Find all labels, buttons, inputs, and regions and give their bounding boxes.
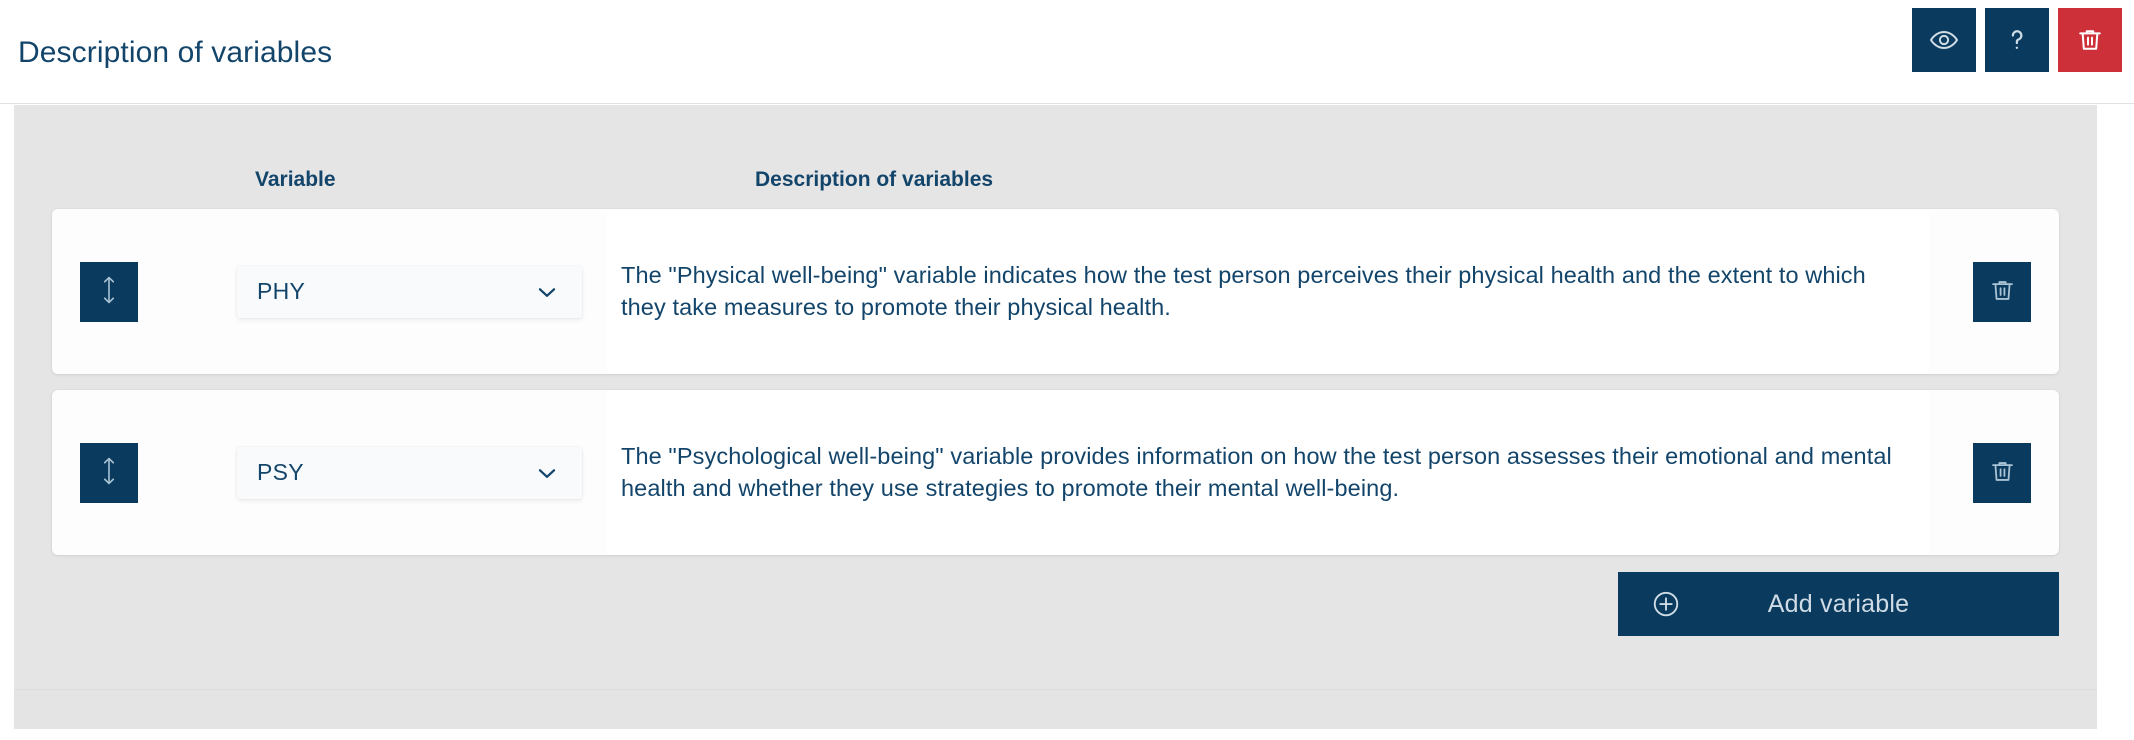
variable-select-value: PSY: [237, 459, 534, 486]
variables-panel: Variable Description of variables PHY: [14, 105, 2097, 729]
variable-description-text: The "Psychological well-being" variable …: [607, 441, 1929, 505]
table-row: PHY The "Physical well-being" variable i…: [52, 209, 2059, 374]
variable-select-value: PHY: [237, 278, 534, 305]
question-mark-icon: [2002, 25, 2032, 55]
trash-icon: [1989, 458, 2016, 488]
chevron-down-icon: [534, 460, 582, 486]
variable-rows: PHY The "Physical well-being" variable i…: [14, 209, 2097, 571]
eye-icon: [1929, 25, 1959, 55]
page-header: Description of variables: [0, 0, 2134, 104]
page-title: Description of variables: [18, 36, 332, 70]
header-action-group: [1912, 8, 2122, 72]
delete-section-button[interactable]: [2058, 8, 2122, 72]
variable-select[interactable]: PHY: [237, 266, 582, 318]
delete-row-button[interactable]: [1973, 443, 2031, 503]
trash-icon: [1989, 277, 2016, 307]
help-button[interactable]: [1985, 8, 2049, 72]
variable-description-text: The "Physical well-being" variable indic…: [607, 260, 1929, 324]
plus-circle-icon: [1618, 589, 1714, 619]
variable-select[interactable]: PSY: [237, 447, 582, 499]
delete-row-button[interactable]: [1973, 262, 2031, 322]
table-header-row: Variable Description of variables: [14, 168, 2097, 198]
column-header-description: Description of variables: [755, 168, 993, 192]
drag-handle-button[interactable]: [80, 262, 138, 322]
add-variable-label: Add variable: [1714, 590, 2059, 619]
drag-vertical-arrows-icon: [98, 275, 120, 308]
add-variable-row: Add variable: [1618, 572, 2059, 636]
table-row: PSY The "Psychological well-being" varia…: [52, 390, 2059, 555]
column-header-variable: Variable: [255, 168, 336, 192]
variable-description-cell[interactable]: The "Psychological well-being" variable …: [607, 390, 1929, 555]
variable-description-cell[interactable]: The "Physical well-being" variable indic…: [607, 209, 1929, 374]
trash-icon: [2076, 26, 2104, 54]
chevron-down-icon: [534, 279, 582, 305]
add-variable-button[interactable]: Add variable: [1618, 572, 2059, 636]
drag-handle-button[interactable]: [80, 443, 138, 503]
drag-vertical-arrows-icon: [98, 456, 120, 489]
preview-button[interactable]: [1912, 8, 1976, 72]
